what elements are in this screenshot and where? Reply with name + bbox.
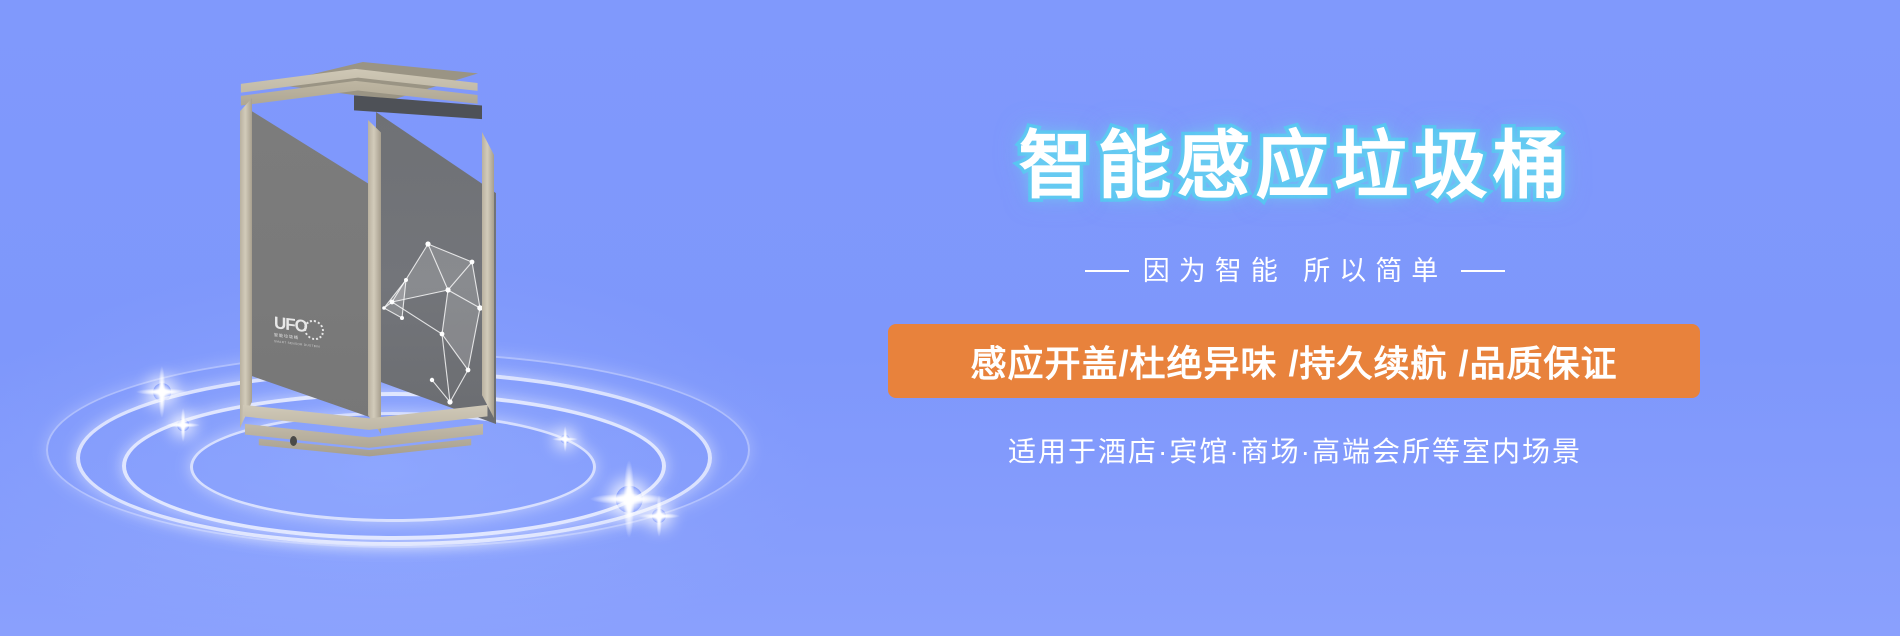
bin-front-panel	[244, 100, 378, 420]
bin-edge-center	[368, 120, 381, 434]
sparkle-icon	[638, 495, 680, 537]
sparkle-icon	[590, 460, 668, 538]
product-hero-banner: UFO 智能垃圾桶 SMART SENSOR DUSTBIN 智能感应垃圾桶 因…	[0, 0, 1900, 636]
banner-title: 智能感应垃圾桶	[880, 124, 1710, 208]
bin-lock-icon	[290, 436, 297, 446]
banner-copy-block: 智能感应垃圾桶 因为智能 所以简单 感应开盖/杜绝异味 /持久续航 /品质保证 …	[880, 0, 1860, 636]
subtitle-rule-right	[1461, 270, 1505, 272]
ufo-brand-logo: UFO 智能垃圾桶 SMART SENSOR DUSTBIN	[274, 314, 338, 362]
product-stage: UFO 智能垃圾桶 SMART SENSOR DUSTBIN	[70, 40, 730, 560]
subtitle-rule-left	[1085, 270, 1129, 272]
sparkle-icon	[552, 426, 578, 452]
bin-side-panel	[376, 112, 496, 424]
feature-highlight-banner: 感应开盖/杜绝异味 /持久续航 /品质保证	[888, 324, 1700, 398]
sparkle-icon	[136, 366, 188, 418]
smart-dustbin-illustration: UFO 智能垃圾桶 SMART SENSOR DUSTBIN	[230, 50, 500, 450]
bin-edge-left	[240, 98, 252, 428]
polygon-network-graphic	[376, 112, 496, 424]
bin-edge-right	[482, 132, 494, 418]
use-cases-text: 适用于酒店·宾馆·商场·高端会所等室内场景	[880, 430, 1710, 470]
feature-highlight-text: 感应开盖/杜绝异味 /持久续航 /品质保证	[970, 335, 1617, 387]
banner-title-text: 智能感应垃圾桶	[1019, 124, 1572, 207]
banner-subtitle-text: 因为智能 所以简单	[1143, 254, 1448, 288]
banner-subtitle: 因为智能 所以简单	[880, 254, 1710, 288]
sparkle-icon	[166, 408, 200, 442]
